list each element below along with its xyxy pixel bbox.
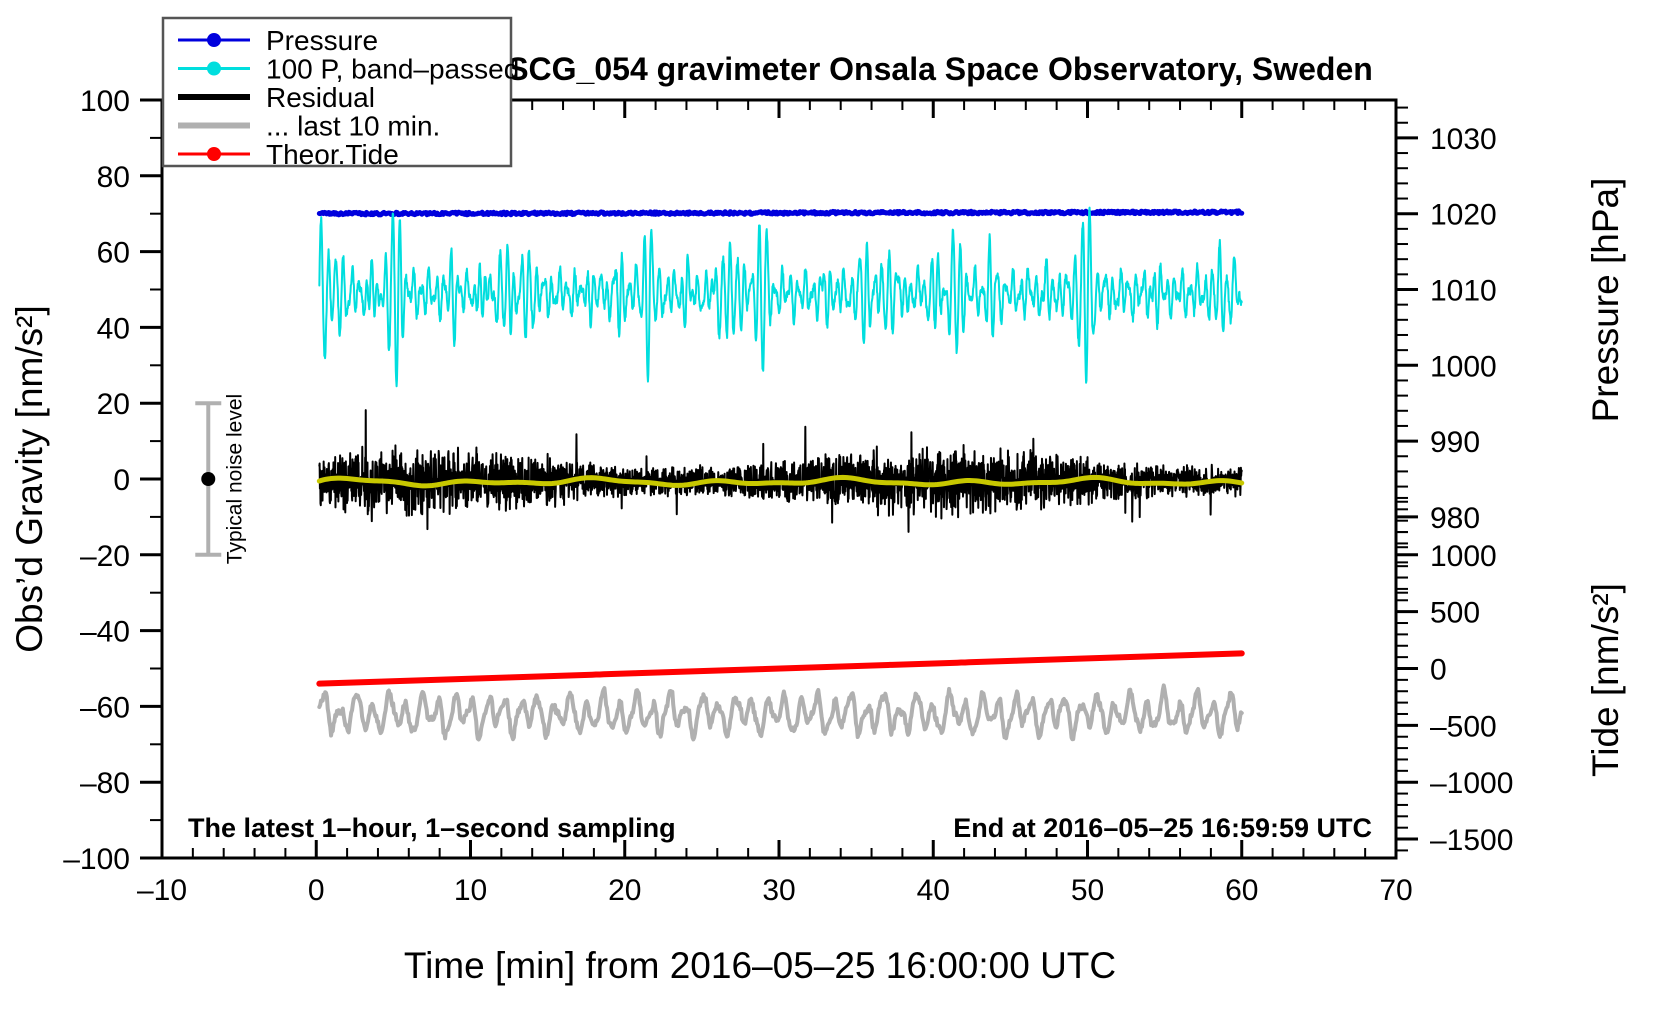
footer-right-note: End at 2016–05–25 16:59:59 UTC — [953, 813, 1372, 843]
y-tick-label: –80 — [80, 767, 130, 800]
pressure-tick-label: 1020 — [1430, 199, 1497, 232]
data-traces — [319, 208, 1241, 740]
tide-tick-label: 1000 — [1430, 540, 1497, 573]
y-tick-label: 100 — [80, 85, 130, 118]
x-tick-label: 70 — [1379, 874, 1412, 907]
y-tick-label: –100 — [63, 843, 130, 876]
page-title: SCG_054 gravimeter Onsala Space Observat… — [507, 51, 1373, 87]
y-tick-label: 60 — [97, 237, 130, 270]
y-tick-label: 20 — [97, 388, 130, 421]
tide-axis-title: Tide [nm/s²] — [1585, 583, 1626, 777]
pressure-tick-label: 980 — [1430, 502, 1480, 535]
pressure-tick-label: 1010 — [1430, 275, 1497, 308]
y-tick-label: 80 — [97, 161, 130, 194]
pressure-tick-label: 1000 — [1430, 350, 1497, 383]
tide-tick-label: –1000 — [1430, 767, 1513, 800]
tide-axis-tick-labels: 10005000–500–1000–1500 — [1430, 540, 1513, 857]
trace-pressure — [319, 211, 1241, 215]
noise-center-marker — [201, 472, 215, 486]
noise-annotation-label: Typical noise level — [223, 394, 246, 564]
legend-swatch-marker — [207, 147, 221, 161]
tide-tick-label: 0 — [1430, 654, 1447, 687]
tide-tick-label: –500 — [1430, 710, 1497, 743]
gravimeter-chart-figure: SCG_054 gravimeter Onsala Space Observat… — [0, 0, 1660, 1020]
legend-item-label: 100 P, band–passed — [266, 54, 519, 85]
pressure-tick-label: 1030 — [1430, 123, 1497, 156]
x-tick-label: 40 — [917, 874, 950, 907]
chart-canvas: SCG_054 gravimeter Onsala Space Observat… — [0, 0, 1660, 1020]
trace-residual — [319, 410, 1241, 532]
footer-left-note: The latest 1–hour, 1–second sampling — [188, 813, 676, 843]
trace-last_10_min — [319, 685, 1241, 739]
pressure-axis-title: Pressure [hPa] — [1585, 178, 1626, 423]
legend: Pressure100 P, band–passedResidual... la… — [163, 18, 519, 170]
y-tick-label: 40 — [97, 312, 130, 345]
y-tick-label: –20 — [80, 540, 130, 573]
legend-item-label: Pressure — [266, 25, 378, 56]
x-axis-tick-labels: –10010203040506070 — [137, 874, 1413, 907]
x-tick-label: 10 — [454, 874, 487, 907]
typical-noise-level-annotation: Typical noise level — [195, 394, 246, 564]
x-tick-label: 60 — [1225, 874, 1258, 907]
legend-swatch-marker — [207, 33, 221, 47]
x-tick-label: 20 — [608, 874, 641, 907]
y-tick-label: –60 — [80, 691, 130, 724]
legend-item-label: Residual — [266, 82, 375, 113]
x-tick-label: 30 — [762, 874, 795, 907]
x-tick-label: 0 — [308, 874, 325, 907]
pressure-axis-tick-labels: 1030102010101000990980 — [1430, 123, 1497, 535]
y-axis-tick-labels: 100806040200–20–40–60–80–100 — [63, 85, 130, 876]
y-tick-label: 0 — [113, 464, 130, 497]
x-tick-label: –10 — [137, 874, 187, 907]
trace-band_passed — [319, 208, 1241, 387]
x-axis-title: Time [min] from 2016–05–25 16:00:00 UTC — [404, 945, 1116, 986]
legend-item-label: ... last 10 min. — [266, 111, 440, 142]
legend-swatch-marker — [207, 62, 221, 76]
y-axis-title: Obs’d Gravity [nm/s²] — [9, 305, 50, 652]
tide-tick-label: 500 — [1430, 597, 1480, 630]
tide-tick-label: –1500 — [1430, 824, 1513, 857]
y-tick-label: –40 — [80, 616, 130, 649]
tide-axis-ticks — [1396, 498, 1418, 850]
x-tick-label: 50 — [1071, 874, 1104, 907]
legend-item-label: Theor.Tide — [266, 139, 399, 170]
trace-theor_tide — [319, 653, 1241, 683]
pressure-tick-label: 990 — [1430, 426, 1480, 459]
